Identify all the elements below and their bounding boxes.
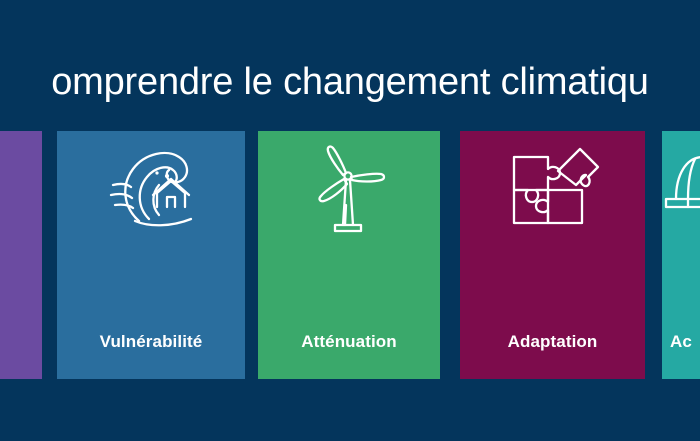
climate-banner: omprendre le changement climatiqu n (0, 0, 700, 441)
wind-turbine-icon (258, 143, 440, 253)
card-label-vulnerabilite: Vulnérabilité (57, 331, 245, 353)
card-label-action: Ac (662, 331, 700, 353)
puzzle-pieces-icon (460, 143, 645, 253)
card-adaptation-left[interactable]: n (0, 131, 42, 379)
wave-house-icon (57, 143, 245, 253)
card-adaptation[interactable]: Adaptation (460, 131, 645, 379)
card-label-adaptation: Adaptation (460, 331, 645, 353)
card-label-attenuation: Atténuation (258, 331, 440, 353)
hard-hat-icon (662, 143, 700, 253)
page-title: omprendre le changement climatiqu (0, 57, 700, 107)
card-vulnerabilite[interactable]: Vulnérabilité (57, 131, 245, 379)
card-action[interactable]: Ac (662, 131, 700, 379)
page-title-text: omprendre le changement climatiqu (51, 57, 649, 107)
category-card-strip: n (0, 131, 700, 380)
card-attenuation[interactable]: Atténuation (258, 131, 440, 379)
card-label-adaptation-left: n (0, 331, 42, 353)
